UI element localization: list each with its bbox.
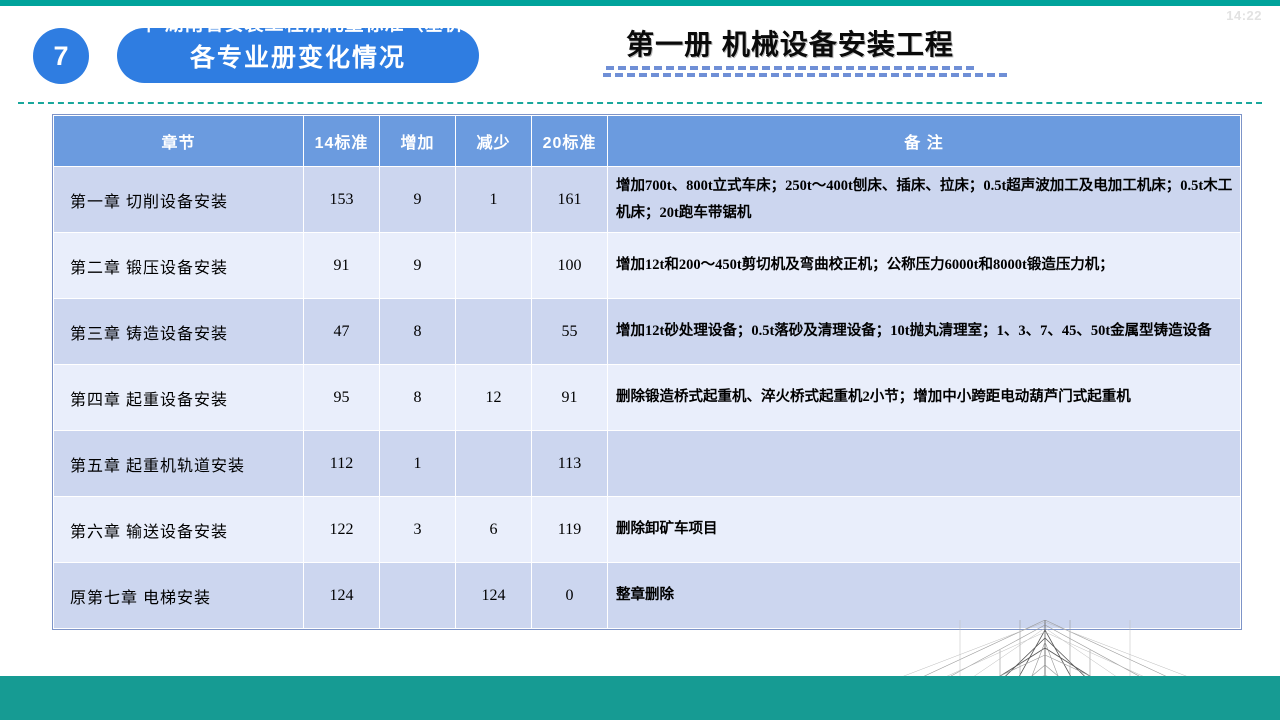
- cell-std14: 47: [304, 299, 380, 365]
- cell-remark: 增加12t和200～450t剪切机及弯曲校正机；公称压力6000t和8000t锻…: [608, 233, 1241, 299]
- cell-std20: 119: [532, 497, 608, 563]
- col-header-std14: 14标准: [304, 116, 380, 167]
- cell-std14: 124: [304, 563, 380, 629]
- cell-remark: 整章删除: [608, 563, 1241, 629]
- table-head: 章节 14标准 增加 减少 20标准 备 注: [54, 116, 1241, 167]
- table-row: 第三章 铸造设备安装 47 8 55 增加12t砂处理设备；0.5t落砂及清理设…: [54, 299, 1241, 365]
- cell-removed: 124: [456, 563, 532, 629]
- col-header-remark: 备 注: [608, 116, 1241, 167]
- cell-added: 1: [380, 431, 456, 497]
- table-row: 第二章 锻压设备安装 91 9 100 增加12t和200～450t剪切机及弯曲…: [54, 233, 1241, 299]
- changes-table: 章节 14标准 增加 减少 20标准 备 注 第一章 切削设备安装 153 9 …: [53, 115, 1241, 629]
- cell-std20: 100: [532, 233, 608, 299]
- cell-std14: 153: [304, 167, 380, 233]
- slide-footer: [0, 676, 1280, 720]
- cell-std20: 91: [532, 365, 608, 431]
- cell-std14: 122: [304, 497, 380, 563]
- table-row: 原第七章 电梯安装 124 124 0 整章删除: [54, 563, 1241, 629]
- cell-std14: 95: [304, 365, 380, 431]
- cell-remark: [608, 431, 1241, 497]
- cell-section: 第五章 起重机轨道安装: [54, 431, 304, 497]
- cell-section: 第六章 输送设备安装: [54, 497, 304, 563]
- cell-std20: 113: [532, 431, 608, 497]
- cell-section: 第三章 铸造设备安装: [54, 299, 304, 365]
- col-header-removed: 减少: [456, 116, 532, 167]
- cell-section: 原第七章 电梯安装: [54, 563, 304, 629]
- cell-removed: [456, 233, 532, 299]
- cell-remark: 增加700t、800t立式车床；250t～400t刨床、插床、拉床；0.5t超声…: [608, 167, 1241, 233]
- cell-remark: 删除卸矿车项目: [608, 497, 1241, 563]
- cell-added: 8: [380, 365, 456, 431]
- title-underline-upper: [606, 66, 974, 70]
- table-row: 第六章 输送设备安装 122 3 6 119 删除卸矿车项目: [54, 497, 1241, 563]
- table-row: 第四章 起重设备安装 95 8 12 91 删除锻造桥式起重机、淬火桥式起重机2…: [54, 365, 1241, 431]
- title-underline-lower: [603, 73, 1007, 77]
- col-header-section: 章节: [54, 116, 304, 167]
- cell-added: 3: [380, 497, 456, 563]
- col-header-added: 增加: [380, 116, 456, 167]
- footer-text: 2020年 湖南省安装工程消耗量标准（基价表）——交底宣贯: [0, 0, 1280, 44]
- cell-added: 9: [380, 167, 456, 233]
- cell-added: 8: [380, 299, 456, 365]
- col-header-std20: 20标准: [532, 116, 608, 167]
- cell-remark: 增加12t砂处理设备；0.5t落砂及清理设备；10t抛丸清理室；1、3、7、45…: [608, 299, 1241, 365]
- cell-added: [380, 563, 456, 629]
- cell-removed: [456, 299, 532, 365]
- cell-section: 第二章 锻压设备安装: [54, 233, 304, 299]
- cell-section: 第一章 切削设备安装: [54, 167, 304, 233]
- cell-std20: 55: [532, 299, 608, 365]
- cell-std20: 161: [532, 167, 608, 233]
- cell-removed: 6: [456, 497, 532, 563]
- table-row: 第五章 起重机轨道安装 112 1 113: [54, 431, 1241, 497]
- cell-std14: 91: [304, 233, 380, 299]
- cell-section: 第四章 起重设备安装: [54, 365, 304, 431]
- cell-remark: 删除锻造桥式起重机、淬火桥式起重机2小节；增加中小跨距电动葫芦门式起重机: [608, 365, 1241, 431]
- changes-table-container: 章节 14标准 增加 减少 20标准 备 注 第一章 切削设备安装 153 9 …: [52, 114, 1242, 630]
- table-body: 第一章 切削设备安装 153 9 1 161 增加700t、800t立式车床；2…: [54, 167, 1241, 629]
- cell-added: 9: [380, 233, 456, 299]
- cell-removed: 12: [456, 365, 532, 431]
- cell-std20: 0: [532, 563, 608, 629]
- section-number-text: 7: [53, 41, 68, 72]
- cell-std14: 112: [304, 431, 380, 497]
- table-row: 第一章 切削设备安装 153 9 1 161 增加700t、800t立式车床；2…: [54, 167, 1241, 233]
- cell-removed: 1: [456, 167, 532, 233]
- cell-removed: [456, 431, 532, 497]
- table-header-row: 章节 14标准 增加 减少 20标准 备 注: [54, 116, 1241, 167]
- header-divider: [18, 102, 1262, 104]
